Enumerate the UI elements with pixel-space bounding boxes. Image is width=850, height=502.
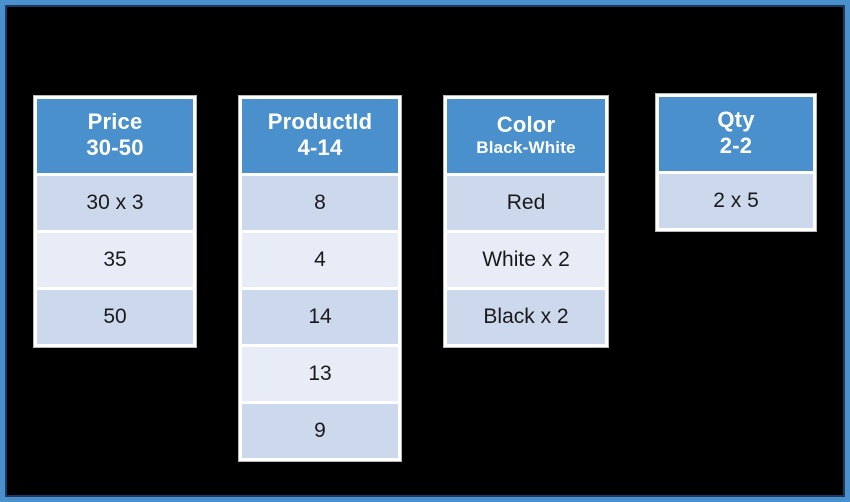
column-rows-productid: 8 4 14 13 9: [242, 176, 398, 458]
column-header-title-productid: ProductId: [268, 109, 372, 135]
column-header-range-color: Black-White: [476, 138, 576, 158]
column-header-price: Price 30-50: [37, 99, 193, 173]
column-header-productid: ProductId 4-14: [242, 99, 398, 173]
column-header-title-price: Price: [88, 109, 143, 135]
column-header-title-qty: Qty: [717, 107, 754, 133]
column-header-range-qty: 2-2: [720, 133, 752, 159]
column-rows-qty: 2 x 5: [659, 174, 813, 228]
column-card-productid[interactable]: ProductId 4-14 8 4 14 13 9: [238, 95, 402, 462]
column-header-qty: Qty 2-2: [659, 97, 813, 171]
screenshot-canvas: Price 30-50 30 x 3 35 50 ProductId 4-14 …: [0, 0, 850, 502]
column-rows-price: 30 x 3 35 50: [37, 176, 193, 344]
table-row[interactable]: 35: [37, 233, 193, 287]
table-row[interactable]: 14: [242, 290, 398, 344]
table-row[interactable]: 4: [242, 233, 398, 287]
column-card-color[interactable]: Color Black-White Red White x 2 Black x …: [443, 95, 609, 348]
column-card-qty[interactable]: Qty 2-2 2 x 5: [655, 93, 817, 232]
column-card-group: Price 30-50 30 x 3 35 50 ProductId 4-14 …: [5, 5, 845, 497]
table-row[interactable]: 2 x 5: [659, 174, 813, 228]
column-card-price[interactable]: Price 30-50 30 x 3 35 50: [33, 95, 197, 348]
table-row[interactable]: White x 2: [447, 233, 605, 287]
table-row[interactable]: 30 x 3: [37, 176, 193, 230]
table-row[interactable]: 8: [242, 176, 398, 230]
column-rows-color: Red White x 2 Black x 2: [447, 176, 605, 344]
table-row[interactable]: Red: [447, 176, 605, 230]
table-row[interactable]: Black x 2: [447, 290, 605, 344]
table-row[interactable]: 13: [242, 347, 398, 401]
table-row[interactable]: 50: [37, 290, 193, 344]
column-header-range-productid: 4-14: [298, 135, 343, 161]
column-header-range-price: 30-50: [86, 135, 143, 161]
table-row[interactable]: 9: [242, 404, 398, 458]
column-header-color: Color Black-White: [447, 99, 605, 173]
column-header-title-color: Color: [497, 112, 555, 138]
